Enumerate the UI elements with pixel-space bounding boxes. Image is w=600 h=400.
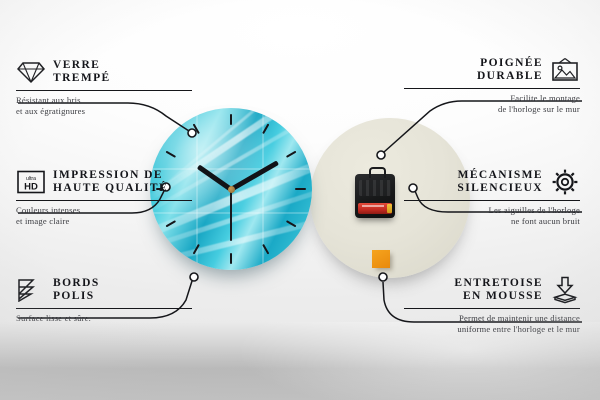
feature-sub-line1: Les aiguilles de l'horloge [489,205,580,215]
divider [16,90,192,91]
feature-title-line2: EN MOUSSE [463,290,543,302]
feature-title-line1: IMPRESSION DE [53,169,163,181]
clock-tick [166,151,177,158]
battery-terminal [387,204,392,213]
divider [404,88,580,89]
feature-title-line2: DURABLE [477,70,543,82]
clock-tick [286,151,297,158]
feature-title-line1: BORDS [53,277,100,289]
battery [358,203,392,214]
feature-title-line2: POLIS [53,290,95,302]
feature-title-line2: TREMPÉ [53,72,111,84]
feature-sub-line2: et aux égratignures [16,106,85,116]
wall-hanger-icon [550,56,580,84]
feature-title-line2: HAUTE QUALITÉ [53,182,168,194]
feature-sub-line1: Surface lisse et sûre. [16,313,91,323]
clock-tick [295,188,306,190]
quartz-mechanism [355,174,395,218]
feature-sub-line1: Permet de maintenir une distance [459,313,580,323]
feature-sub-line2: uniforme entre l'horloge et le mur [457,324,580,334]
second-hand [230,189,232,241]
feature-verre-trempe[interactable]: VERRE TREMPÉ Résistant aux bris et aux é… [16,58,192,117]
foam-spacer [372,250,390,268]
feature-sub-line1: Couleurs intenses [16,205,80,215]
feature-title-line1: MÉCANISME [458,169,543,181]
divider [404,308,580,309]
mechanism-housing-detail [359,180,391,196]
battery-label [362,205,384,207]
feature-sub-line1: Facilite le montage [510,93,580,103]
feature-title-line1: POIGNÉE [480,57,543,69]
svg-text:HD: HD [24,182,38,193]
clock-center-hub [228,186,235,193]
infographic-stage: VERRE TREMPÉ Résistant aux bris et aux é… [0,0,600,400]
hanger-tab-icon [369,167,386,178]
feature-title-line1: VERRE [53,59,100,71]
feature-entretoise-en-mousse[interactable]: ENTRETOISE EN MOUSSE Permet de maintenir… [404,276,580,335]
clock-tick [230,114,232,125]
feature-sub-line2: de l'horloge sur le mur [498,104,580,114]
divider [16,200,192,201]
ultra-hd-icon: ultra HD [16,168,46,196]
feature-poignee-durable[interactable]: POIGNÉE DURABLE Facilite le montage de l… [404,56,580,115]
feature-impression-haute-qualite[interactable]: ultra HD IMPRESSION DE HAUTE QUALITÉ Cou… [16,168,192,227]
feature-title-line2: SILENCIEUX [457,182,543,194]
feature-bords-polis[interactable]: BORDS POLIS Surface lisse et sûre. [16,276,192,324]
divider [404,200,580,201]
polished-edges-icon [16,276,46,304]
feature-mecanisme-silencieux[interactable]: MÉCANISME SILENCIEUX Les aiguilles de l'… [404,168,580,227]
feature-sub-line2: et image claire [16,216,70,226]
feature-sub-line1: Résistant aux bris [16,95,81,105]
clock-tick [230,253,232,264]
feature-sub-line2: ne font aucun bruit [511,216,580,226]
gear-icon [550,168,580,196]
divider [16,308,192,309]
diamond-icon [16,58,46,86]
foam-spacer-icon [550,276,580,304]
feature-title-line1: ENTRETOISE [454,277,543,289]
